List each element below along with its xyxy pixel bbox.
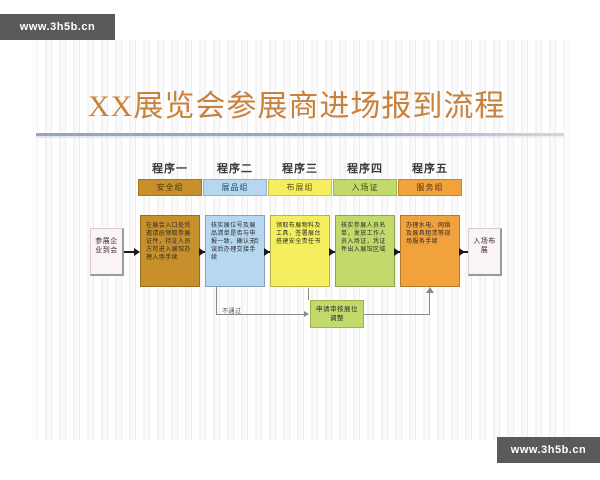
flow-end-node: 入场布展 xyxy=(468,228,502,276)
page-title: XX展览会参展商进场报到流程 xyxy=(88,90,538,124)
step-header-5: 程序五 服务组 xyxy=(398,163,462,196)
watermark-bottom: www.3h5b.cn xyxy=(497,437,600,463)
flow-box-step-1: 在展会入口处凭邀请函领取参展证件，持证人员方可进入展馆办理入场手续 xyxy=(140,215,200,287)
flow-box-step-4: 核实参展人员名单，发放工作人员入场证，凭证件出入展馆区域 xyxy=(335,215,395,287)
step-badge: 布展组 xyxy=(268,179,332,196)
flow-branch-box: 申请审核展位调整 xyxy=(310,300,364,328)
step-badge: 安全组 xyxy=(138,179,202,196)
branch-label-yes: 否 xyxy=(253,236,260,245)
step-header-1: 程序一 安全组 xyxy=(138,163,202,196)
step-header-3: 程序三 布展组 xyxy=(268,163,332,196)
step-badge: 展品组 xyxy=(203,179,267,196)
step-title: 程序五 xyxy=(398,163,462,176)
watermark-top: www.3h5b.cn xyxy=(0,14,115,40)
arrow-icon xyxy=(459,248,465,256)
arrow-icon xyxy=(304,311,309,317)
title-divider-shadow xyxy=(36,136,564,138)
flow-box-step-2: 核实展位号及展品清单是否与申报一致，确认无误后办理交接手续 xyxy=(205,215,265,287)
branch-return-vertical xyxy=(429,292,430,315)
flow-box-step-5: 办理水电、网络及展具租赁等现场服务手续 xyxy=(400,215,460,287)
branch-return-horizontal xyxy=(364,314,430,315)
flow-box-step-3: 领取布展物料及工具，签署展台搭建安全责任书 xyxy=(270,215,330,287)
step-title: 程序二 xyxy=(203,163,267,176)
step-badge: 入场证 xyxy=(333,179,397,196)
slide-right-fade xyxy=(560,40,600,440)
branch-connector-down xyxy=(216,287,217,315)
step-header-4: 程序四 入场证 xyxy=(333,163,397,196)
step-title: 程序一 xyxy=(138,163,202,176)
step-title: 程序三 xyxy=(268,163,332,176)
step-title: 程序四 xyxy=(333,163,397,176)
flow-start-node: 参展企业到会 xyxy=(90,228,124,276)
branch-stub xyxy=(308,288,309,300)
step-header-2: 程序二 展品组 xyxy=(203,163,267,196)
arrow-icon xyxy=(426,287,434,293)
step-badge: 服务组 xyxy=(398,179,462,196)
branch-connector-horizontal xyxy=(216,314,308,315)
slide-left-fade xyxy=(0,40,46,440)
